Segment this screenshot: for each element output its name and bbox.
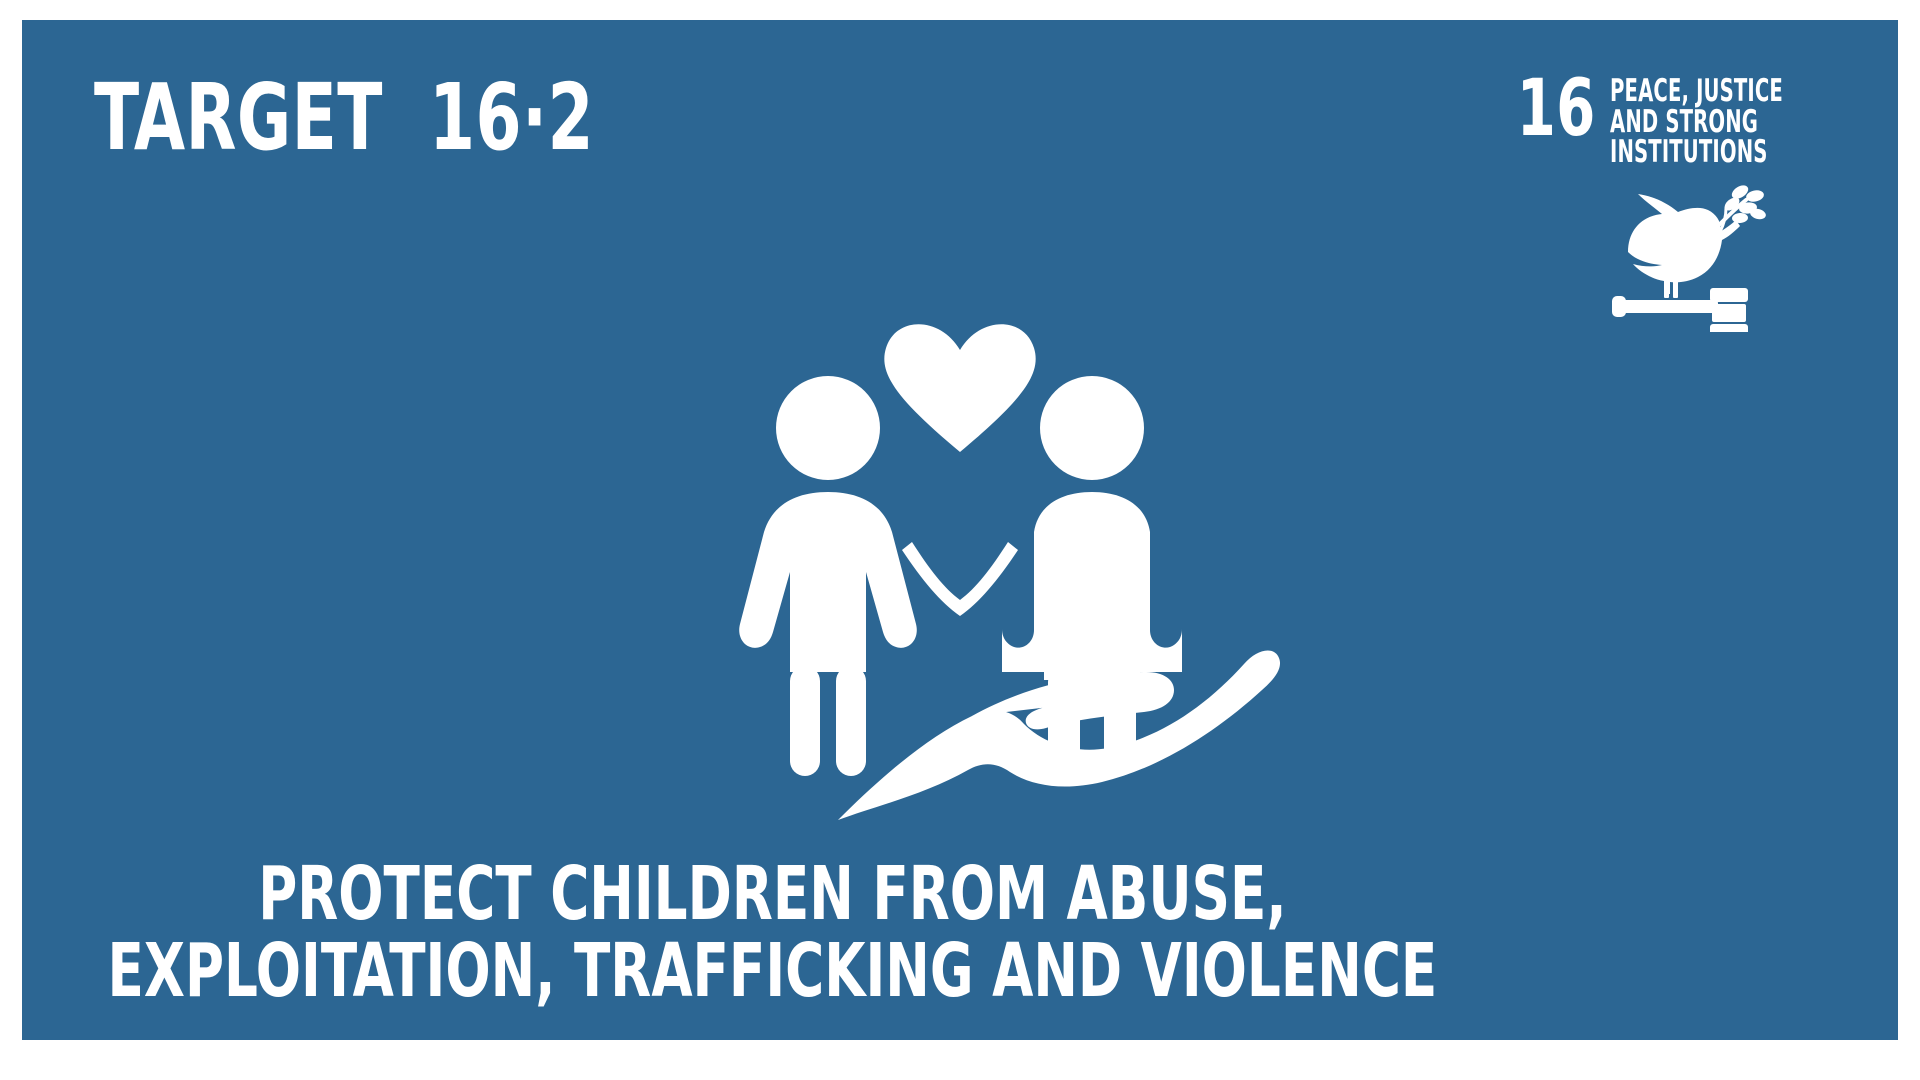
sdg-target-poster: TARGET 16·2 16 PEACE, JUSTICE AND STRONG… — [22, 20, 1898, 1040]
sdg-goal-icon-wrap — [1496, 182, 1826, 332]
target-caption: PROTECT CHILDREN FROM ABUSE, EXPLOITATIO… — [22, 856, 1898, 1010]
sdg-goal-badge: 16 PEACE, JUSTICE AND STRONG INSTITUTION… — [1496, 76, 1826, 332]
sdg-goal-title-line-2: AND STRONG — [1610, 107, 1762, 138]
dove-with-olive-branch-on-gavel-icon — [1608, 182, 1768, 332]
girl-figure — [739, 376, 917, 776]
sdg-goal-title: PEACE, JUSTICE AND STRONG INSTITUTIONS — [1610, 76, 1783, 168]
sdg-badge-header: 16 PEACE, JUSTICE AND STRONG INSTITUTION… — [1496, 76, 1826, 168]
caption-line-1: PROTECT CHILDREN FROM ABUSE, — [22, 856, 1523, 933]
target-heading: TARGET 16·2 — [94, 72, 635, 164]
target-number: 16·2 — [429, 72, 594, 164]
sdg-goal-title-line-3: INSTITUTIONS — [1610, 137, 1762, 168]
sdg-goal-number: 16 — [1517, 76, 1596, 143]
protect-children-pictogram — [640, 220, 1280, 840]
heart-icon — [884, 324, 1035, 452]
protective-hand-palm — [648, 650, 1280, 820]
target-label: TARGET — [94, 72, 383, 164]
joined-hands — [902, 542, 1018, 616]
caption-line-2: EXPLOITATION, TRAFFICKING AND VIOLENCE — [22, 933, 1523, 1010]
sdg-goal-title-line-1: PEACE, JUSTICE — [1610, 76, 1762, 107]
